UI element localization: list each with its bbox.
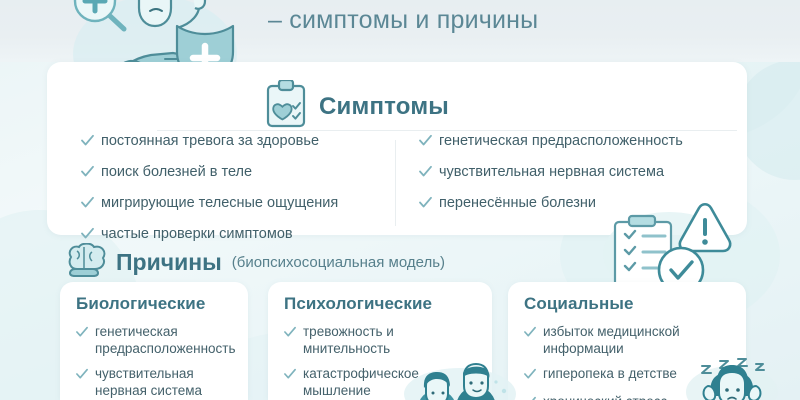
check-icon xyxy=(419,196,432,214)
list-item: генетическая предрасположенность xyxy=(76,323,234,357)
symptoms-card: Симптомы постоянная тревога за здоровье … xyxy=(47,62,747,235)
symptoms-header: Симптомы xyxy=(265,80,449,133)
check-icon xyxy=(419,165,432,183)
check-icon xyxy=(81,165,94,183)
list-item: чувствительная нервная система xyxy=(76,365,234,399)
list-item-label: частые проверки симптомов xyxy=(101,225,293,243)
cause-card-title: Социальные xyxy=(524,294,732,314)
list-item: избыток медицинской информации xyxy=(524,323,732,357)
cause-card-title: Психологические xyxy=(284,294,478,314)
list-item-label: генетическая предрасположенность xyxy=(439,132,683,150)
list-item-label: перенесённые болезни xyxy=(439,194,596,212)
symptoms-list-right: генетическая предрасположенность чувстви… xyxy=(419,132,729,225)
check-icon xyxy=(524,325,536,343)
list-item-label: избыток медицинской информации xyxy=(543,323,732,357)
list-item: перенесённые болезни xyxy=(419,194,729,214)
list-item-label: хронический стресс xyxy=(543,393,667,400)
check-icon xyxy=(81,196,94,214)
list-item: хронический стресс xyxy=(524,393,732,400)
list-item: мигрирующие телесные ощущения xyxy=(81,194,381,214)
check-icon xyxy=(284,325,296,343)
list-item: катастрофическое мышление xyxy=(284,365,478,399)
list-item: поиск болезней в теле xyxy=(81,163,381,183)
list-item-label: гиперопека в детстве xyxy=(543,365,677,382)
symptoms-list-left: постоянная тревога за здоровье поиск бол… xyxy=(81,132,381,256)
cause-card-social: Социальные избыток медицинской информаци… xyxy=(508,282,746,400)
list-item: генетическая предрасположенность xyxy=(419,132,729,152)
divider-vertical xyxy=(395,140,396,226)
list-item-label: постоянная тревога за здоровье xyxy=(101,132,319,150)
page-title: – симптомы и причины xyxy=(268,6,538,35)
causes-subtitle: (биопсихосоциальная модель) xyxy=(232,254,445,271)
list-item-label: генетическая предрасположенность xyxy=(95,323,236,357)
list-item: тревожность и мнительность xyxy=(284,323,478,357)
check-icon xyxy=(524,367,536,385)
causes-header: Причины (биопсихосоциальная модель) xyxy=(62,243,445,282)
check-icon xyxy=(76,325,88,343)
symptoms-title: Симптомы xyxy=(319,93,449,121)
list-item: постоянная тревога за здоровье xyxy=(81,132,381,152)
check-icon xyxy=(524,395,536,400)
list-item-label: чувствительная нервная система xyxy=(95,365,234,399)
list-item-label: поиск болезней в теле xyxy=(101,163,252,181)
cause-card-title: Биологические xyxy=(76,294,234,314)
cause-card-biological: Биологические генетическая предрасположе… xyxy=(60,282,248,400)
cause-card-psychological: Психологические тревожность и мнительнос… xyxy=(268,282,492,400)
brain-icon xyxy=(62,243,106,282)
check-icon xyxy=(81,134,94,152)
check-icon xyxy=(76,367,88,385)
list-item: гиперопека в детстве xyxy=(524,365,732,385)
list-item: частые проверки симптомов xyxy=(81,225,381,245)
list-item-label: катастрофическое мышление xyxy=(303,365,478,399)
divider-horizontal xyxy=(157,130,737,131)
check-icon xyxy=(284,367,296,385)
clipboard-heart-icon xyxy=(265,80,307,133)
list-item-label: чувствительная нервная система xyxy=(439,163,664,181)
list-item-label: тревожность и мнительность xyxy=(303,323,478,357)
list-item-label: мигрирующие телесные ощущения xyxy=(101,194,338,212)
causes-title: Причины xyxy=(116,249,222,276)
check-icon xyxy=(419,134,432,152)
list-item: чувствительная нервная система xyxy=(419,163,729,183)
